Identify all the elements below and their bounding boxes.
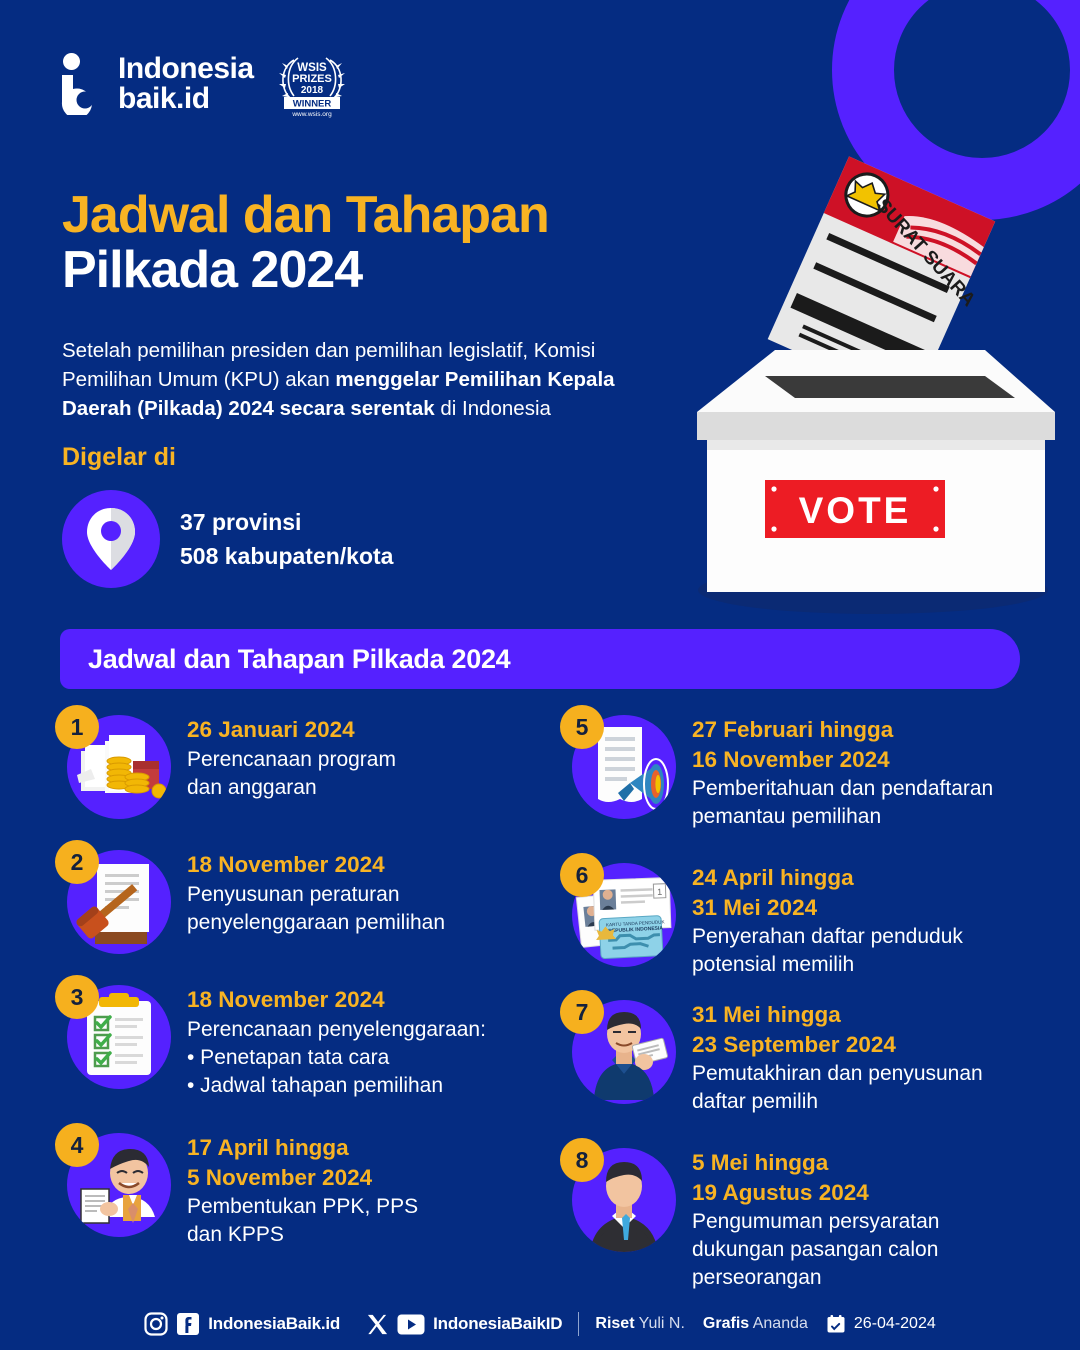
timeline-item: 5	[560, 705, 993, 831]
indonesiabaik-logo-icon	[60, 53, 104, 115]
publish-date: 26-04-2024	[854, 1315, 936, 1333]
step-description: Pemberitahuan dan pendaftaran pemantau p…	[692, 775, 993, 831]
riset-label: Riset	[595, 1315, 634, 1332]
logo-b-glyph	[60, 75, 104, 115]
step-description: Pemutakhiran dan penyusunan daftar pemil…	[692, 1060, 983, 1116]
social-handle-1[interactable]: IndonesiaBaik.id	[208, 1314, 340, 1334]
brand-logo: Indonesia baik.id WSIS PRIZES 2018 WINNE…	[60, 50, 350, 118]
timeline-item: 7	[560, 990, 983, 1116]
timeline-item: 1	[55, 705, 396, 823]
svg-text:2018: 2018	[300, 85, 323, 96]
title-line-1: Jadwal dan Tahapan	[62, 188, 702, 243]
youtube-icon[interactable]	[397, 1314, 425, 1335]
step-date: 27 Februari hingga 16 November 2024	[692, 715, 993, 774]
step-number-badge: 5	[560, 705, 604, 749]
step-date: 17 April hingga 5 November 2024	[187, 1133, 418, 1192]
infographic-page: Indonesia baik.id WSIS PRIZES 2018 WINNE…	[0, 0, 1080, 1350]
digelar-label: Digelar di	[62, 443, 176, 472]
step-date: 24 April hingga 31 Mei 2024	[692, 863, 963, 922]
coverage-stats: 37 provinsi 508 kabupaten/kota	[62, 490, 393, 588]
lede-post: di Indonesia	[435, 397, 551, 420]
riset-name: Yuli N.	[639, 1315, 685, 1332]
location-pin-badge	[62, 490, 160, 588]
instagram-icon[interactable]	[144, 1312, 168, 1336]
step-description: Penyerahan daftar penduduk potensial mem…	[692, 923, 963, 979]
brand-name-line2: baik.id	[118, 84, 254, 114]
wsis-prizes-award-icon: WSIS PRIZES 2018 WINNER www.wsis.org	[274, 50, 350, 118]
step-number-badge: 1	[55, 705, 99, 749]
footer-bar: IndonesiaBaik.id IndonesiaBaikID Riset Y…	[0, 1298, 1080, 1350]
timeline-item: 2	[55, 840, 445, 958]
step-number-badge: 2	[55, 840, 99, 884]
svg-text:WINNER: WINNER	[292, 99, 331, 110]
facebook-icon[interactable]	[176, 1312, 200, 1336]
grafis-label: Grafis	[703, 1315, 749, 1332]
credit-grafis: Grafis Ananda	[703, 1315, 808, 1333]
section-banner: Jadwal dan Tahapan Pilkada 2024	[60, 629, 1020, 689]
publish-date-group: 26-04-2024	[826, 1314, 936, 1334]
step-number-badge: 6	[560, 853, 604, 897]
step-date: 18 November 2024	[187, 850, 445, 880]
step-date: 26 Januari 2024	[187, 715, 396, 745]
timeline-item: 6 2	[560, 853, 963, 979]
brand-name-line1: Indonesia	[118, 54, 254, 84]
svg-text:1: 1	[657, 887, 662, 897]
step-description: Pengumuman persyaratan dukungan pasangan…	[692, 1208, 939, 1292]
coverage-regencies: 508 kabupaten/kota	[180, 539, 393, 574]
intro-paragraph: Setelah pemilihan presiden dan pemilihan…	[62, 336, 687, 423]
ballot-box-illustration: SURAT SUARA VOTE	[655, 150, 1065, 620]
step-number-badge: 7	[560, 990, 604, 1034]
title-line-2: Pilkada 2024	[62, 243, 702, 298]
timeline-item: 3	[55, 975, 486, 1099]
svg-text:PRIZES: PRIZES	[292, 73, 332, 85]
grafis-name: Ananda	[753, 1315, 808, 1332]
section-banner-title: Jadwal dan Tahapan Pilkada 2024	[60, 644, 510, 675]
map-pin-icon	[85, 506, 137, 572]
step-description: Perencanaan program dan anggaran	[187, 746, 396, 802]
step-number-badge: 3	[55, 975, 99, 1019]
social-handle-2[interactable]: IndonesiaBaikID	[433, 1314, 562, 1334]
timeline-item: 8 5	[560, 1138, 939, 1292]
coverage-provinces: 37 provinsi	[180, 505, 393, 540]
timeline-item: 4	[55, 1123, 418, 1249]
x-twitter-icon[interactable]	[366, 1313, 389, 1336]
footer-divider	[578, 1312, 579, 1336]
credit-riset: Riset Yuli N.	[595, 1315, 685, 1333]
step-date: 5 Mei hingga 19 Agustus 2024	[692, 1148, 939, 1207]
social-group-2: IndonesiaBaikID	[366, 1313, 562, 1336]
step-description: Perencanaan penyelenggaraan: • Penetapan…	[187, 1016, 486, 1100]
step-description: Penyusunan peraturan penyelenggaraan pem…	[187, 881, 445, 937]
vote-box-label: VOTE	[799, 490, 912, 531]
step-date: 31 Mei hingga 23 September 2024	[692, 1000, 983, 1059]
step-number-badge: 4	[55, 1123, 99, 1167]
step-description: Pembentukan PPK, PPS dan KPPS	[187, 1193, 418, 1249]
calendar-icon	[826, 1314, 846, 1334]
step-number-badge: 8	[560, 1138, 604, 1182]
page-title: Jadwal dan Tahapan Pilkada 2024	[62, 188, 702, 298]
svg-text:www.wsis.org: www.wsis.org	[291, 111, 332, 118]
social-group-1: IndonesiaBaik.id	[144, 1312, 340, 1336]
step-date: 18 November 2024	[187, 985, 486, 1015]
